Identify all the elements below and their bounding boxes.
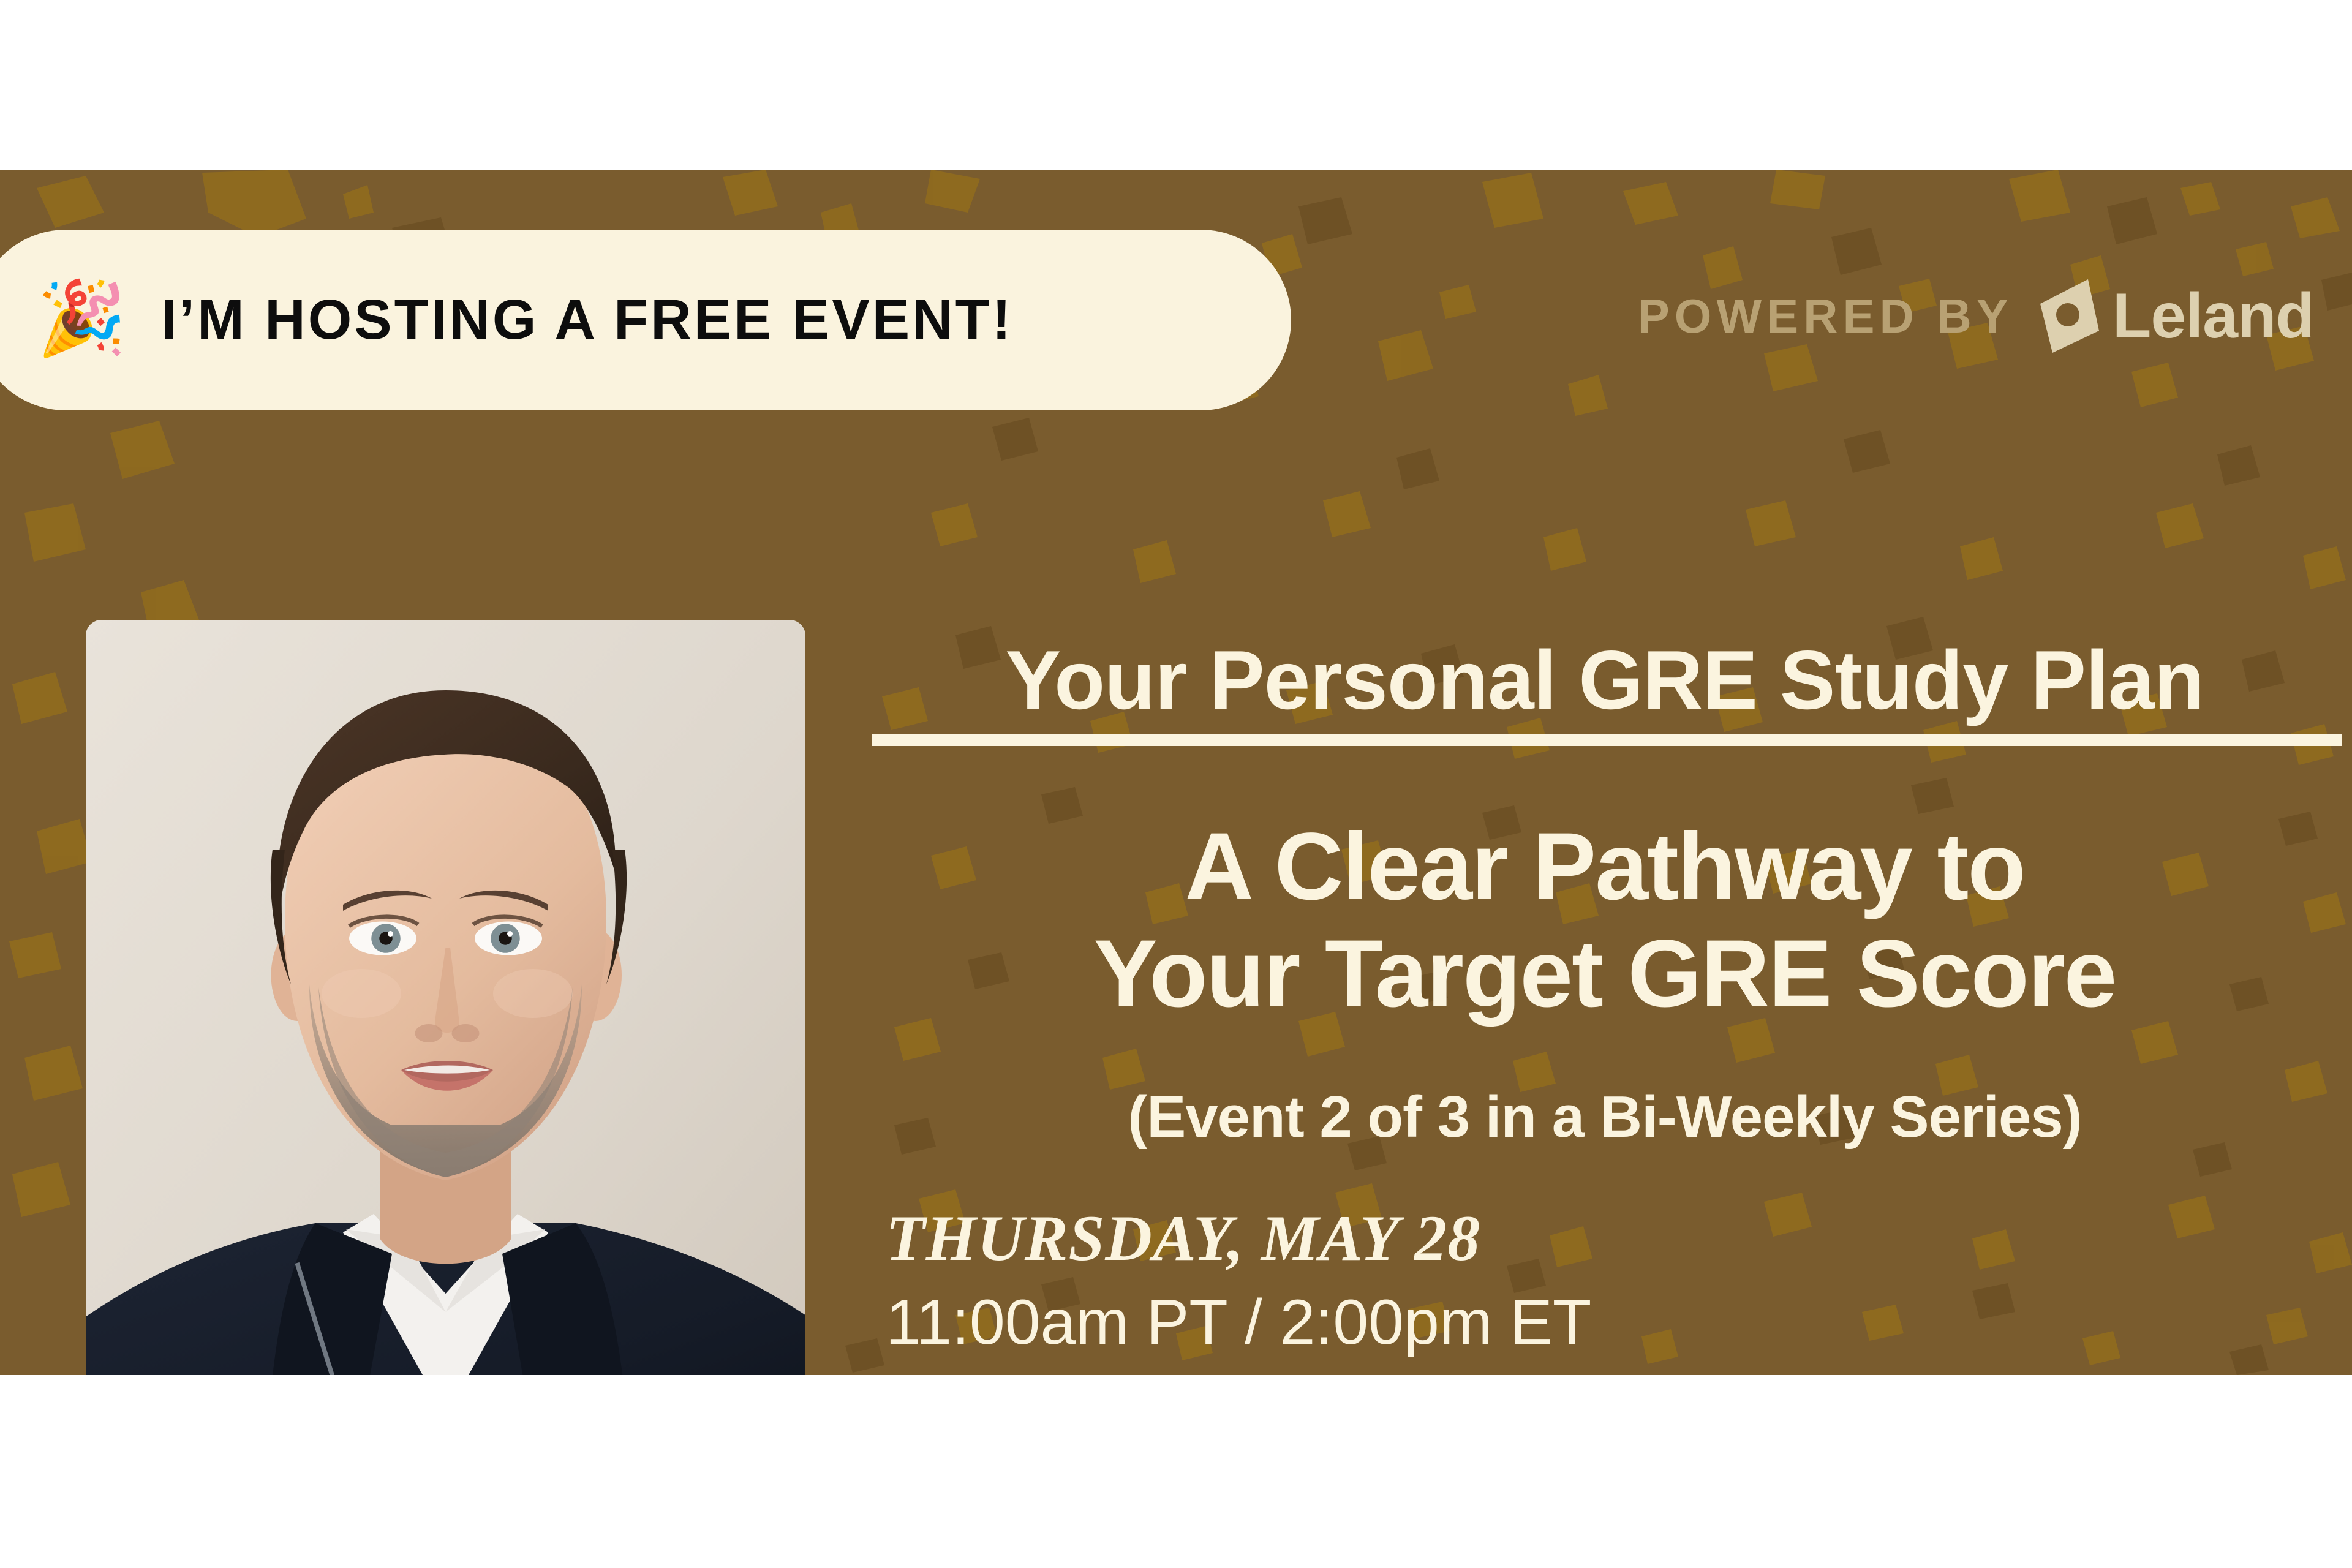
leland-wordmark: Leland [2113,284,2314,348]
powered-by-label: POWERED BY [1638,288,2013,344]
event-headline: A Clear Pathway to Your Target GRE Score [876,813,2334,1027]
event-datetime: THURSDAY, MAY 28 11:00am PT / 2:00pm ET [876,1202,2334,1357]
headline-line-1: A Clear Pathway to [876,813,2334,921]
event-date: THURSDAY, MAY 28 [886,1202,2334,1275]
headline-line-2: Your Target GRE Score [876,921,2334,1028]
event-time: 11:00am PT / 2:00pm ET [886,1287,2334,1357]
speaker-photo [86,620,805,1375]
party-popper-emoji: 🎉 [37,282,127,355]
event-kicker: Your Personal GRE Study Plan [1005,635,2204,725]
event-banner: 🎉 I’M HOSTING A FREE EVENT! POWERED BY L… [0,170,2352,1375]
kicker-underline [872,734,2342,746]
badge-label: I’M HOSTING A FREE EVENT! [161,288,1013,352]
event-copy: Your Personal GRE Study Plan A Clear Pat… [876,635,2334,1357]
event-series-note: (Event 2 of 3 in a Bi-Weekly Series) [876,1084,2334,1151]
hosting-event-badge: 🎉 I’M HOSTING A FREE EVENT! [0,230,1291,410]
promo-banner-page: 🎉 I’M HOSTING A FREE EVENT! POWERED BY L… [0,0,2352,1568]
powered-by-leland: POWERED BY Leland [1638,277,2314,355]
leland-diamond-logo [2040,277,2099,355]
